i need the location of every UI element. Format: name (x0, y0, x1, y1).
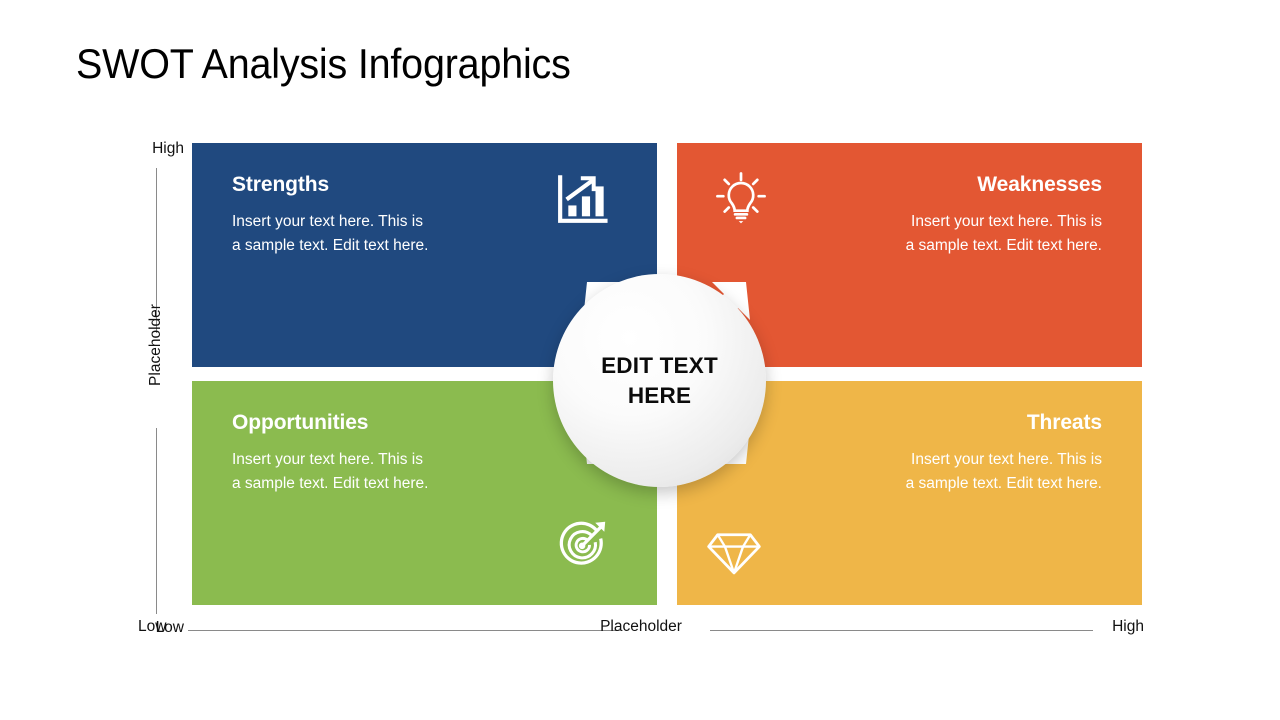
swot-matrix: Strengths Insert your text here. This is… (192, 143, 1142, 602)
bar-chart-growth-icon (552, 171, 610, 229)
lightbulb-icon (712, 169, 770, 227)
quadrant-threats-body: Insert your text here. This is a sample … (717, 448, 1102, 496)
quadrant-threats-body-line1: Insert your text here. This is (717, 448, 1102, 472)
diamond-icon (705, 523, 763, 581)
center-circle[interactable]: EDIT TEXT HERE (553, 274, 766, 487)
quadrant-weaknesses-heading: Weaknesses (717, 173, 1102, 196)
x-axis-title: Placeholder (130, 618, 1152, 636)
y-axis-title: Placeholder (147, 285, 165, 405)
quadrant-opportunities-body-line1: Insert your text here. This is (232, 448, 617, 472)
quadrant-opportunities-body: Insert your text here. This is a sample … (232, 448, 617, 496)
x-axis: Low Placeholder High (130, 618, 1152, 644)
quadrant-threats-heading: Threats (717, 411, 1102, 434)
x-axis-line-right (710, 630, 1093, 631)
target-arrow-icon (554, 515, 612, 573)
quadrant-threats-body-line2: a sample text. Edit text here. (717, 472, 1102, 496)
page-title: SWOT Analysis Infographics (76, 40, 571, 88)
y-axis-line-bottom (156, 428, 157, 614)
quadrant-weaknesses-body: Insert your text here. This is a sample … (717, 210, 1102, 258)
center-circle-text: EDIT TEXT HERE (601, 351, 718, 410)
y-axis: High Placeholder Low (120, 140, 192, 610)
x-axis-label-high: High (1112, 618, 1144, 636)
quadrant-weaknesses-body-line2: a sample text. Edit text here. (717, 234, 1102, 258)
quadrant-weaknesses-body-line1: Insert your text here. This is (717, 210, 1102, 234)
y-axis-label-high: High (152, 140, 184, 158)
center-circle-line1: EDIT TEXT (601, 351, 718, 381)
quadrant-strengths-body-line2: a sample text. Edit text here. (232, 234, 617, 258)
center-circle-line2: HERE (601, 381, 718, 411)
quadrant-opportunities-body-line2: a sample text. Edit text here. (232, 472, 617, 496)
